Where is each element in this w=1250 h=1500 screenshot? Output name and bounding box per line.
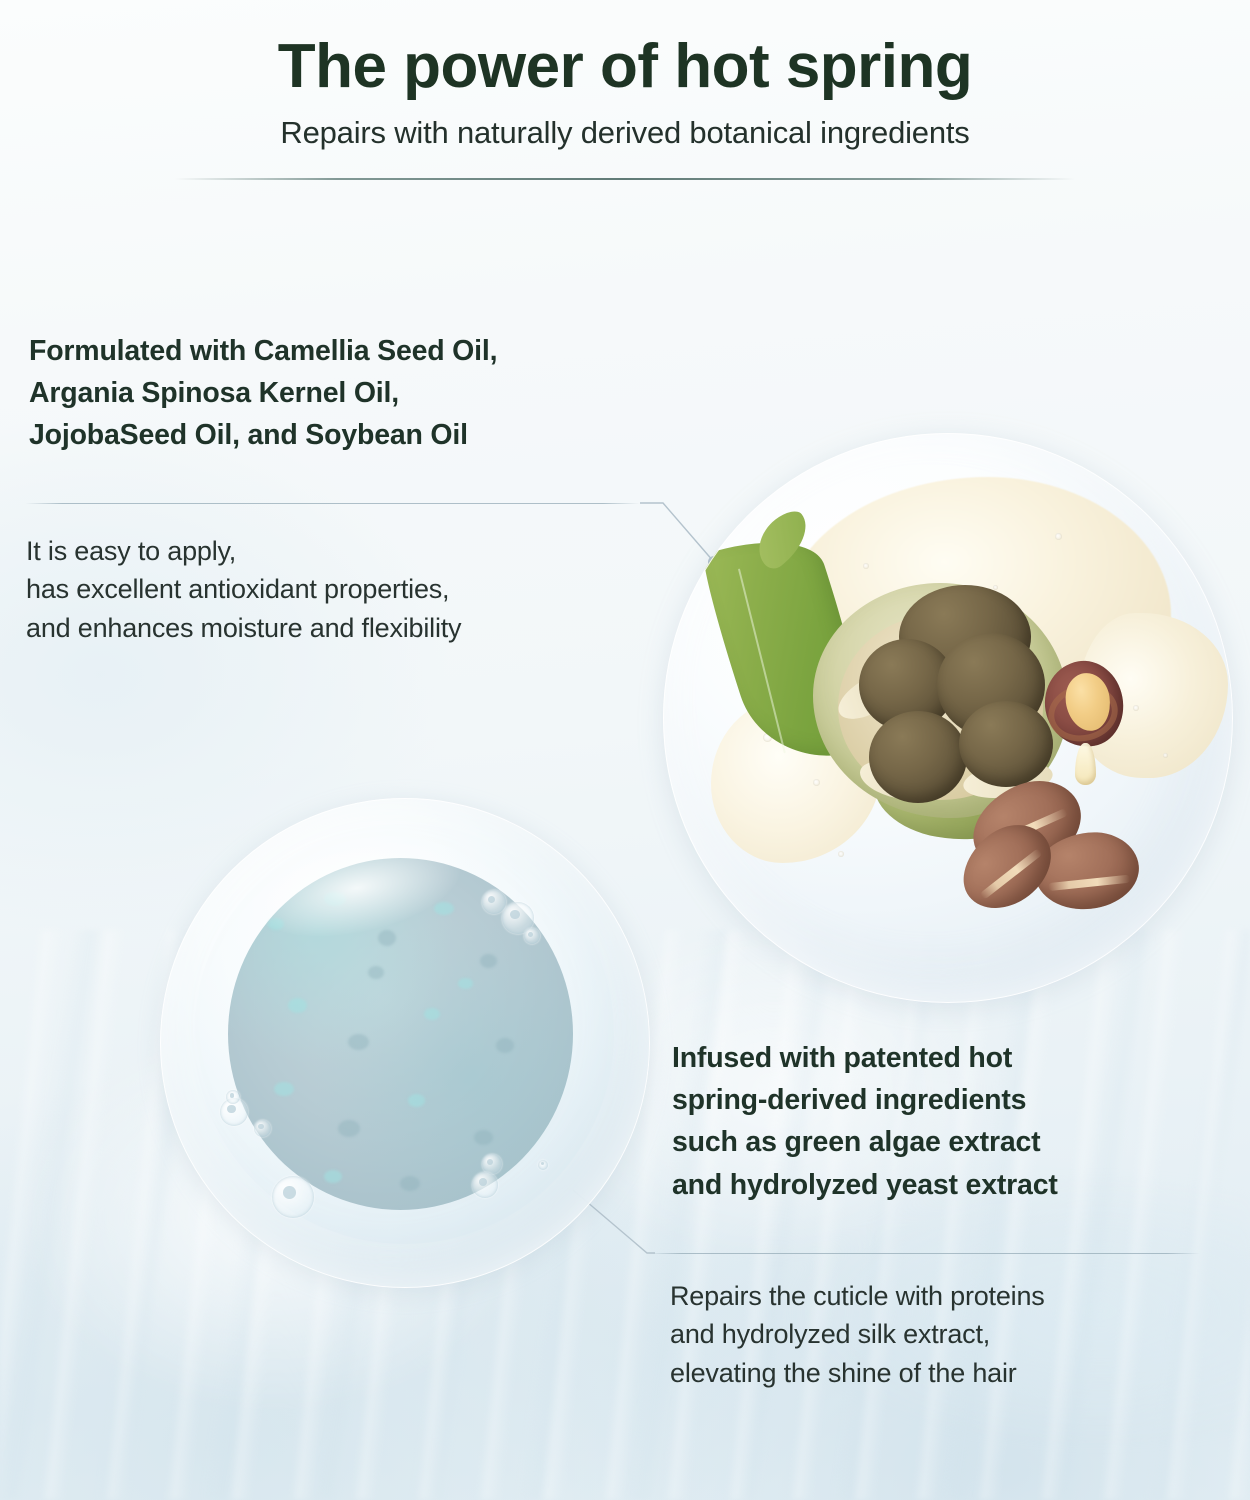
- cuticle-body-text: Repairs the cuticle with proteins and hy…: [670, 1277, 1215, 1392]
- oil-bubble-icon: [863, 563, 869, 569]
- gel-outer-rim: [194, 824, 614, 1244]
- nut-seam: [985, 808, 1069, 851]
- nut-seam: [1048, 875, 1130, 892]
- oil-bubble-icon: [763, 733, 772, 742]
- mineral-speck: [458, 978, 473, 989]
- camellia-seed: [959, 701, 1053, 787]
- leaf-vein: [738, 568, 786, 753]
- camellia-seed: [937, 633, 1045, 737]
- page-title: The power of hot spring: [0, 34, 1250, 101]
- gel-bubble-icon: [220, 1098, 248, 1126]
- mineral-speck: [480, 954, 497, 968]
- pod-flesh: [961, 757, 1055, 803]
- gel-mineral-core: [228, 858, 573, 1210]
- mineral-speck: [274, 1082, 294, 1096]
- header: The power of hot spring Repairs with nat…: [0, 34, 1250, 151]
- pod-flesh: [856, 754, 933, 806]
- gel-bubble-icon: [502, 902, 534, 934]
- mineral-speck: [338, 1120, 360, 1137]
- pod-flesh: [831, 664, 909, 728]
- camellia-seed: [869, 711, 967, 803]
- ingredients-image-circle: [663, 433, 1233, 1003]
- oil-bubble-icon: [993, 585, 998, 590]
- oil-bubble-icon: [1163, 753, 1168, 758]
- gel-bubble-icon: [226, 1090, 240, 1104]
- mineral-speck: [434, 902, 454, 915]
- gel-bubble-icon: [538, 1160, 548, 1170]
- gel-bubble-icon: [482, 1154, 502, 1174]
- argan-oil-droplet: [1075, 743, 1096, 785]
- right-divider: [648, 1253, 1200, 1254]
- gel-bubble-icon: [472, 1172, 498, 1198]
- mineral-speck: [378, 930, 396, 946]
- camellia-pod-husk: [813, 583, 1068, 818]
- page-subtitle: Repairs with naturally derived botanical…: [0, 115, 1250, 151]
- gel-bubble-icon: [482, 890, 506, 914]
- ingredients-headline: Formulated with Camellia Seed Oil, Argan…: [29, 330, 729, 457]
- cream-oil-splash: [781, 477, 1171, 727]
- nut-seam: [980, 848, 1043, 900]
- camellia-seed: [899, 585, 1031, 689]
- camellia-seed: [859, 639, 955, 731]
- hotspring-headline: Infused with patented hot spring-derived…: [672, 1037, 1217, 1206]
- mineral-speck: [496, 1038, 514, 1053]
- hotspring-gel-circle: [160, 798, 650, 1288]
- mineral-speck: [268, 918, 284, 930]
- gel-bubble-icon: [524, 928, 540, 944]
- gel-bubble-icon: [254, 1120, 271, 1137]
- mineral-speck: [324, 1170, 342, 1183]
- oil-bubble-icon: [1055, 533, 1062, 540]
- mineral-speck: [324, 892, 346, 906]
- mineral-speck: [424, 1008, 440, 1020]
- camellia-leaf-icon: [696, 520, 883, 781]
- camellia-pod-interior: [838, 615, 1043, 800]
- argan-nut-icon: [947, 809, 1067, 925]
- oil-bubble-icon: [838, 851, 844, 857]
- camellia-pod-green-half: [867, 740, 1040, 852]
- gel-bubble-icon: [272, 1176, 314, 1218]
- cream-oil-arm: [1078, 613, 1228, 778]
- argan-nut-icon: [1031, 828, 1142, 914]
- argan-shell-ring: [1043, 678, 1123, 747]
- mineral-speck: [288, 998, 307, 1013]
- camellia-leaf-tip: [747, 505, 819, 573]
- mineral-speck: [400, 1176, 420, 1191]
- oil-bubble-icon: [1133, 705, 1139, 711]
- cream-oil-droplet: [711, 698, 881, 863]
- cream-oil-neck: [747, 645, 849, 771]
- mineral-speck: [368, 966, 384, 979]
- mineral-speck: [474, 1130, 493, 1145]
- gel-highlight: [245, 823, 469, 953]
- mineral-speck: [348, 1034, 369, 1050]
- argan-kernel: [1062, 670, 1114, 734]
- benefits-body-text: It is easy to apply, has excellent antio…: [26, 532, 686, 647]
- oil-bubble-icon: [813, 779, 820, 786]
- header-divider: [175, 178, 1075, 180]
- mineral-speck: [408, 1094, 425, 1107]
- argan-open-shell-icon: [1038, 655, 1130, 753]
- left-divider: [25, 503, 640, 504]
- argan-nut-icon: [959, 766, 1095, 886]
